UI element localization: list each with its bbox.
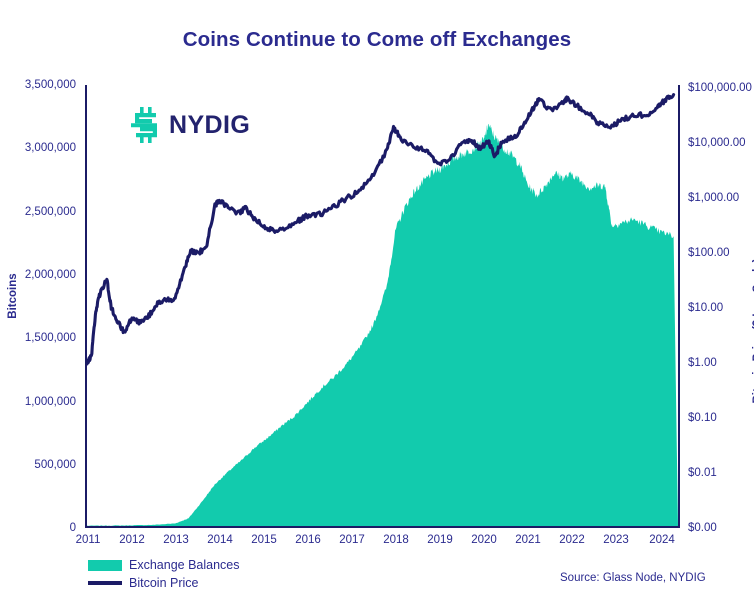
ytick-left-0: 0 [0, 522, 76, 534]
xtick-2024: 2024 [649, 534, 675, 546]
xtick-2016: 2016 [295, 534, 321, 546]
xtick-2021: 2021 [515, 534, 541, 546]
legend-swatch-line-icon [88, 581, 122, 585]
nydig-wordmark: NYDIG [169, 111, 250, 140]
xtick-2012: 2012 [119, 534, 145, 546]
exchange-balances-area [87, 124, 678, 526]
xtick-2023: 2023 [603, 534, 629, 546]
ytick-right-10: $10.00 [688, 302, 723, 314]
ytick-right-1: $1.00 [688, 357, 717, 369]
chart-page: Coins Continue to Come off Exchanges 3,5… [0, 0, 754, 606]
chart-legend: Exchange Balances Bitcoin Price [88, 556, 240, 592]
ytick-left-2500000: 2,500,000 [0, 206, 76, 218]
ytick-left-500000: 500,000 [0, 459, 76, 471]
legend-label-exchange-balances: Exchange Balances [129, 558, 240, 572]
xtick-2014: 2014 [207, 534, 233, 546]
xtick-2013: 2013 [163, 534, 189, 546]
ytick-right-0_10: $0.10 [688, 412, 717, 424]
xtick-2018: 2018 [383, 534, 409, 546]
page-title: Coins Continue to Come off Exchanges [0, 28, 754, 52]
nydig-logo: NYDIG [131, 107, 250, 143]
y-axis-label-left: Bitcoins [7, 236, 19, 356]
legend-label-bitcoin-price: Bitcoin Price [129, 576, 198, 590]
xtick-2019: 2019 [427, 534, 453, 546]
xtick-2015: 2015 [251, 534, 277, 546]
xtick-2011: 2011 [76, 534, 101, 546]
ytick-right-1000: $1,000.00 [688, 192, 739, 204]
legend-item-exchange-balances: Exchange Balances [88, 556, 240, 574]
chart-canvas [87, 85, 678, 526]
ytick-left-1000000: 1,000,000 [0, 396, 76, 408]
nydig-s-mark-icon [131, 107, 161, 143]
ytick-right-0_00: $0.00 [688, 522, 717, 534]
source-note: Source: Glass Node, NYDIG [560, 572, 706, 584]
ytick-left-3000000: 3,000,000 [0, 142, 76, 154]
ytick-right-100000: $100,000.00 [688, 82, 752, 94]
ytick-right-10000: $10,000.00 [688, 137, 746, 149]
xtick-2017: 2017 [339, 534, 365, 546]
xtick-2022: 2022 [559, 534, 585, 546]
legend-swatch-area-icon [88, 560, 122, 571]
xtick-2020: 2020 [471, 534, 497, 546]
ytick-right-0_01: $0.01 [688, 467, 717, 479]
legend-item-bitcoin-price: Bitcoin Price [88, 574, 240, 592]
ytick-left-3500000: 3,500,000 [0, 79, 76, 91]
ytick-right-100: $100.00 [688, 247, 730, 259]
plot-area [85, 85, 680, 528]
